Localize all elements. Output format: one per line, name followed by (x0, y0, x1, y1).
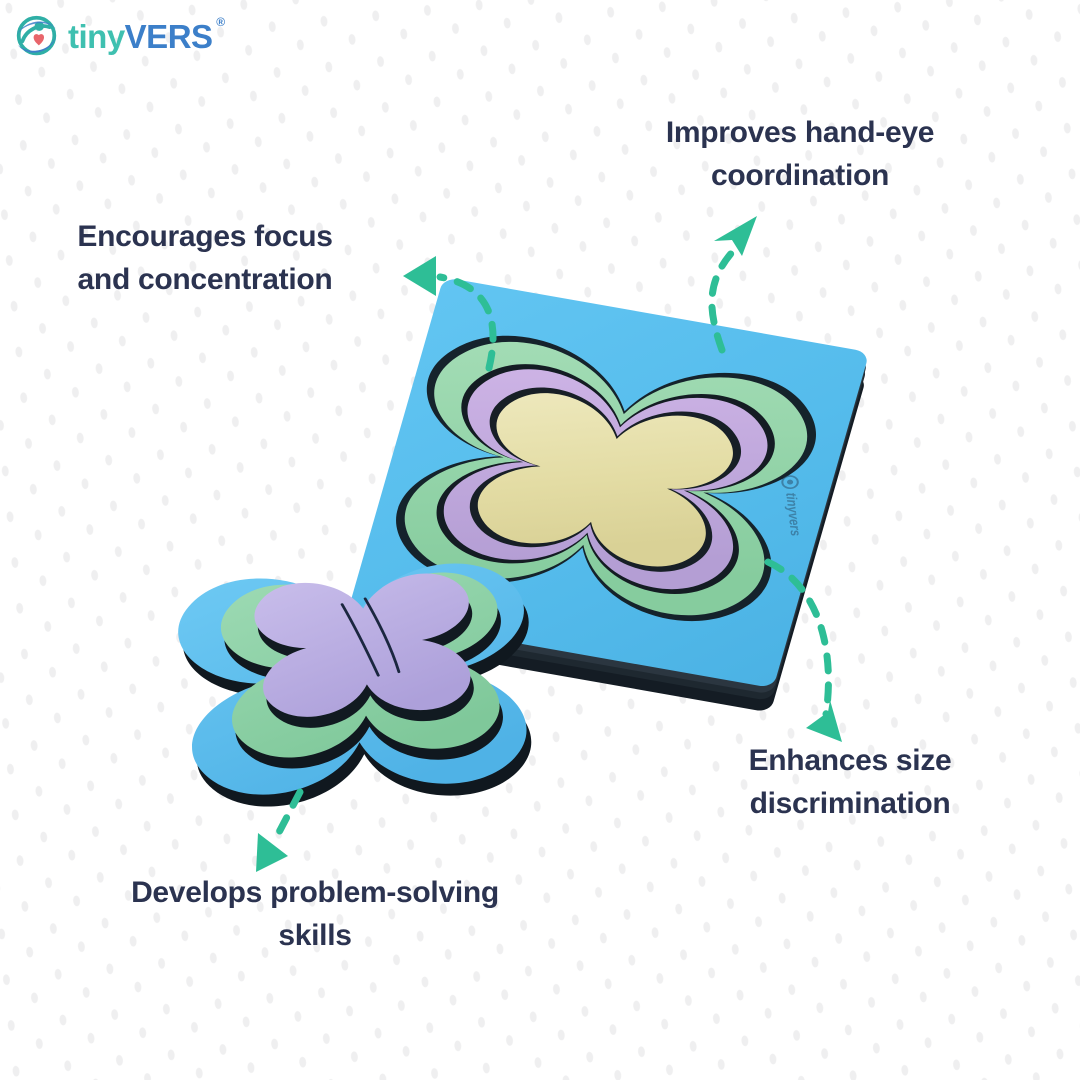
callout-line-2: discrimination (690, 783, 1010, 826)
arrow-to-size-icon (768, 562, 842, 742)
globe-heart-icon (14, 14, 59, 59)
arrow-to-hand-eye-icon (712, 216, 757, 350)
callout-line-2: skills (80, 915, 550, 958)
callout-develops-problem-solving-skills: Develops problem-solving skills (80, 872, 550, 957)
callout-line-1: Encourages focus (0, 216, 410, 259)
arrow-to-problem-icon (256, 792, 300, 872)
callout-line-2: coordination (600, 155, 1000, 198)
callout-line-1: Improves hand-eye (600, 112, 1000, 155)
arrow-to-focus-icon (403, 256, 493, 368)
brand-wordmark-tiny: tiny (68, 18, 125, 55)
callout-line-2: and concentration (0, 259, 410, 302)
callout-encourages-focus-and-concentration: Encourages focus and concentration (0, 216, 410, 301)
callout-enhances-size-discrimination: Enhances size discrimination (690, 740, 1010, 825)
registered-trademark-icon: ® (216, 16, 224, 28)
callout-improves-hand-eye-coordination: Improves hand-eye coordination (600, 112, 1000, 197)
brand-wordmark: tinyVERS® (68, 20, 213, 53)
callout-line-1: Enhances size (690, 740, 1010, 783)
brand-wordmark-vers: VERS (125, 18, 213, 55)
brand-logo[interactable]: tinyVERS® (14, 14, 213, 59)
callout-line-1: Develops problem-solving (80, 872, 550, 915)
